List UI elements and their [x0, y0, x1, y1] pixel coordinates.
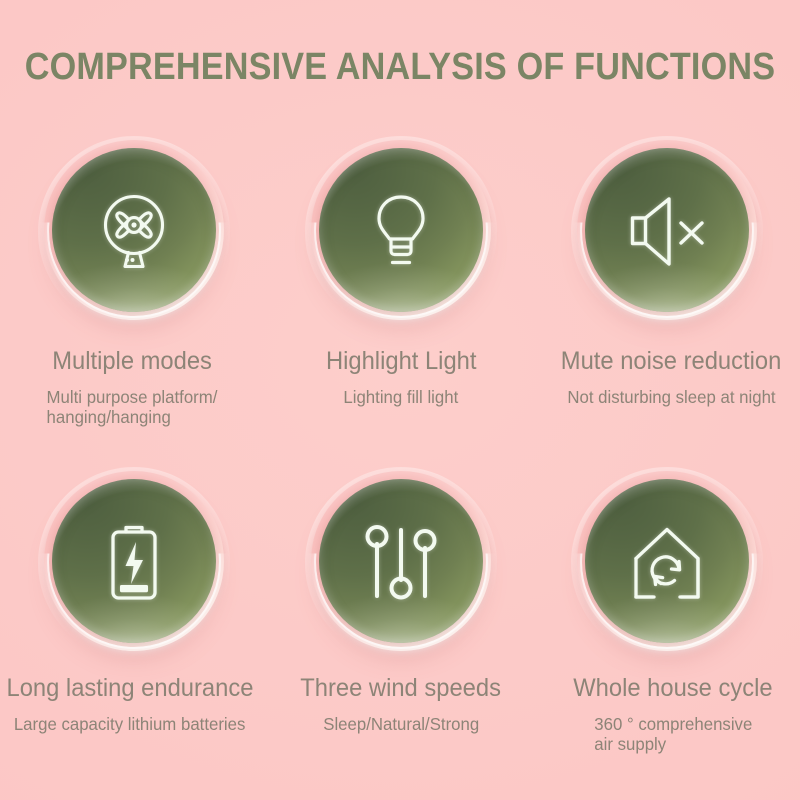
feature-subtitle: Sleep/Natural/Strong [323, 714, 479, 735]
feature-caption: Highlight Light Lighting fill light [268, 348, 534, 407]
feature-title: Whole house cycle [573, 675, 772, 703]
feature-subtitle: Large capacity lithium batteries [14, 714, 246, 735]
feature-title: Three wind speeds [301, 675, 502, 703]
feature-title: Multiple modes [52, 348, 212, 376]
header: COMPREHENSIVE ANALYSIS OF FUNCTIONS [0, 0, 800, 130]
feature-grid: Multiple modes Multi purpose platform/ h… [0, 130, 800, 800]
feature-subtitle: Lighting fill light [344, 387, 459, 408]
feature-title: Highlight Light [326, 348, 477, 376]
lightbulb-icon [305, 136, 497, 328]
feature-poster: COMPREHENSIVE ANALYSIS OF FUNCTIONS [0, 0, 800, 800]
feature-button-three-wind-speeds[interactable] [305, 467, 497, 659]
feature-card-three-wind-speeds[interactable]: Three wind speeds Sleep/Natural/Strong [268, 465, 534, 800]
house-cycle-icon [571, 467, 763, 659]
feature-title: Long lasting endurance [6, 675, 253, 703]
feature-caption: Mute noise reduction Not disturbing slee… [538, 348, 800, 407]
feature-subtitle: 360 ° comprehensive air supply [594, 714, 752, 755]
feature-caption: Whole house cycle 360 ° comprehensive ai… [540, 675, 800, 755]
feature-button-whole-house-cycle[interactable] [571, 467, 763, 659]
page-title: COMPREHENSIVE ANALYSIS OF FUNCTIONS [25, 48, 776, 86]
feature-subtitle: Not disturbing sleep at night [567, 387, 775, 408]
feature-card-long-lasting-endurance[interactable]: Long lasting endurance Large capacity li… [0, 465, 268, 800]
mute-speaker-icon [571, 136, 763, 328]
feature-card-highlight-light[interactable]: Highlight Light Lighting fill light [268, 130, 534, 465]
feature-card-multiple-modes[interactable]: Multiple modes Multi purpose platform/ h… [0, 130, 268, 465]
feature-button-long-lasting-endurance[interactable] [38, 467, 230, 659]
feature-card-mute-noise-reduction[interactable]: Mute noise reduction Not disturbing slee… [534, 130, 800, 465]
feature-button-multiple-modes[interactable] [38, 136, 230, 328]
feature-button-highlight-light[interactable] [305, 136, 497, 328]
feature-caption: Multiple modes Multi purpose platform/ h… [0, 348, 266, 428]
feature-subtitle: Multi purpose platform/ hanging/hanging [47, 387, 218, 428]
feature-card-whole-house-cycle[interactable]: Whole house cycle 360 ° comprehensive ai… [534, 465, 800, 800]
battery-charging-icon [38, 467, 230, 659]
feature-caption: Long lasting endurance Large capacity li… [0, 675, 264, 734]
feature-button-mute-noise-reduction[interactable] [571, 136, 763, 328]
feature-caption: Three wind speeds Sleep/Natural/Strong [268, 675, 534, 734]
feature-title: Mute noise reduction [561, 348, 781, 376]
fan-icon [38, 136, 230, 328]
sliders-icon [305, 467, 497, 659]
